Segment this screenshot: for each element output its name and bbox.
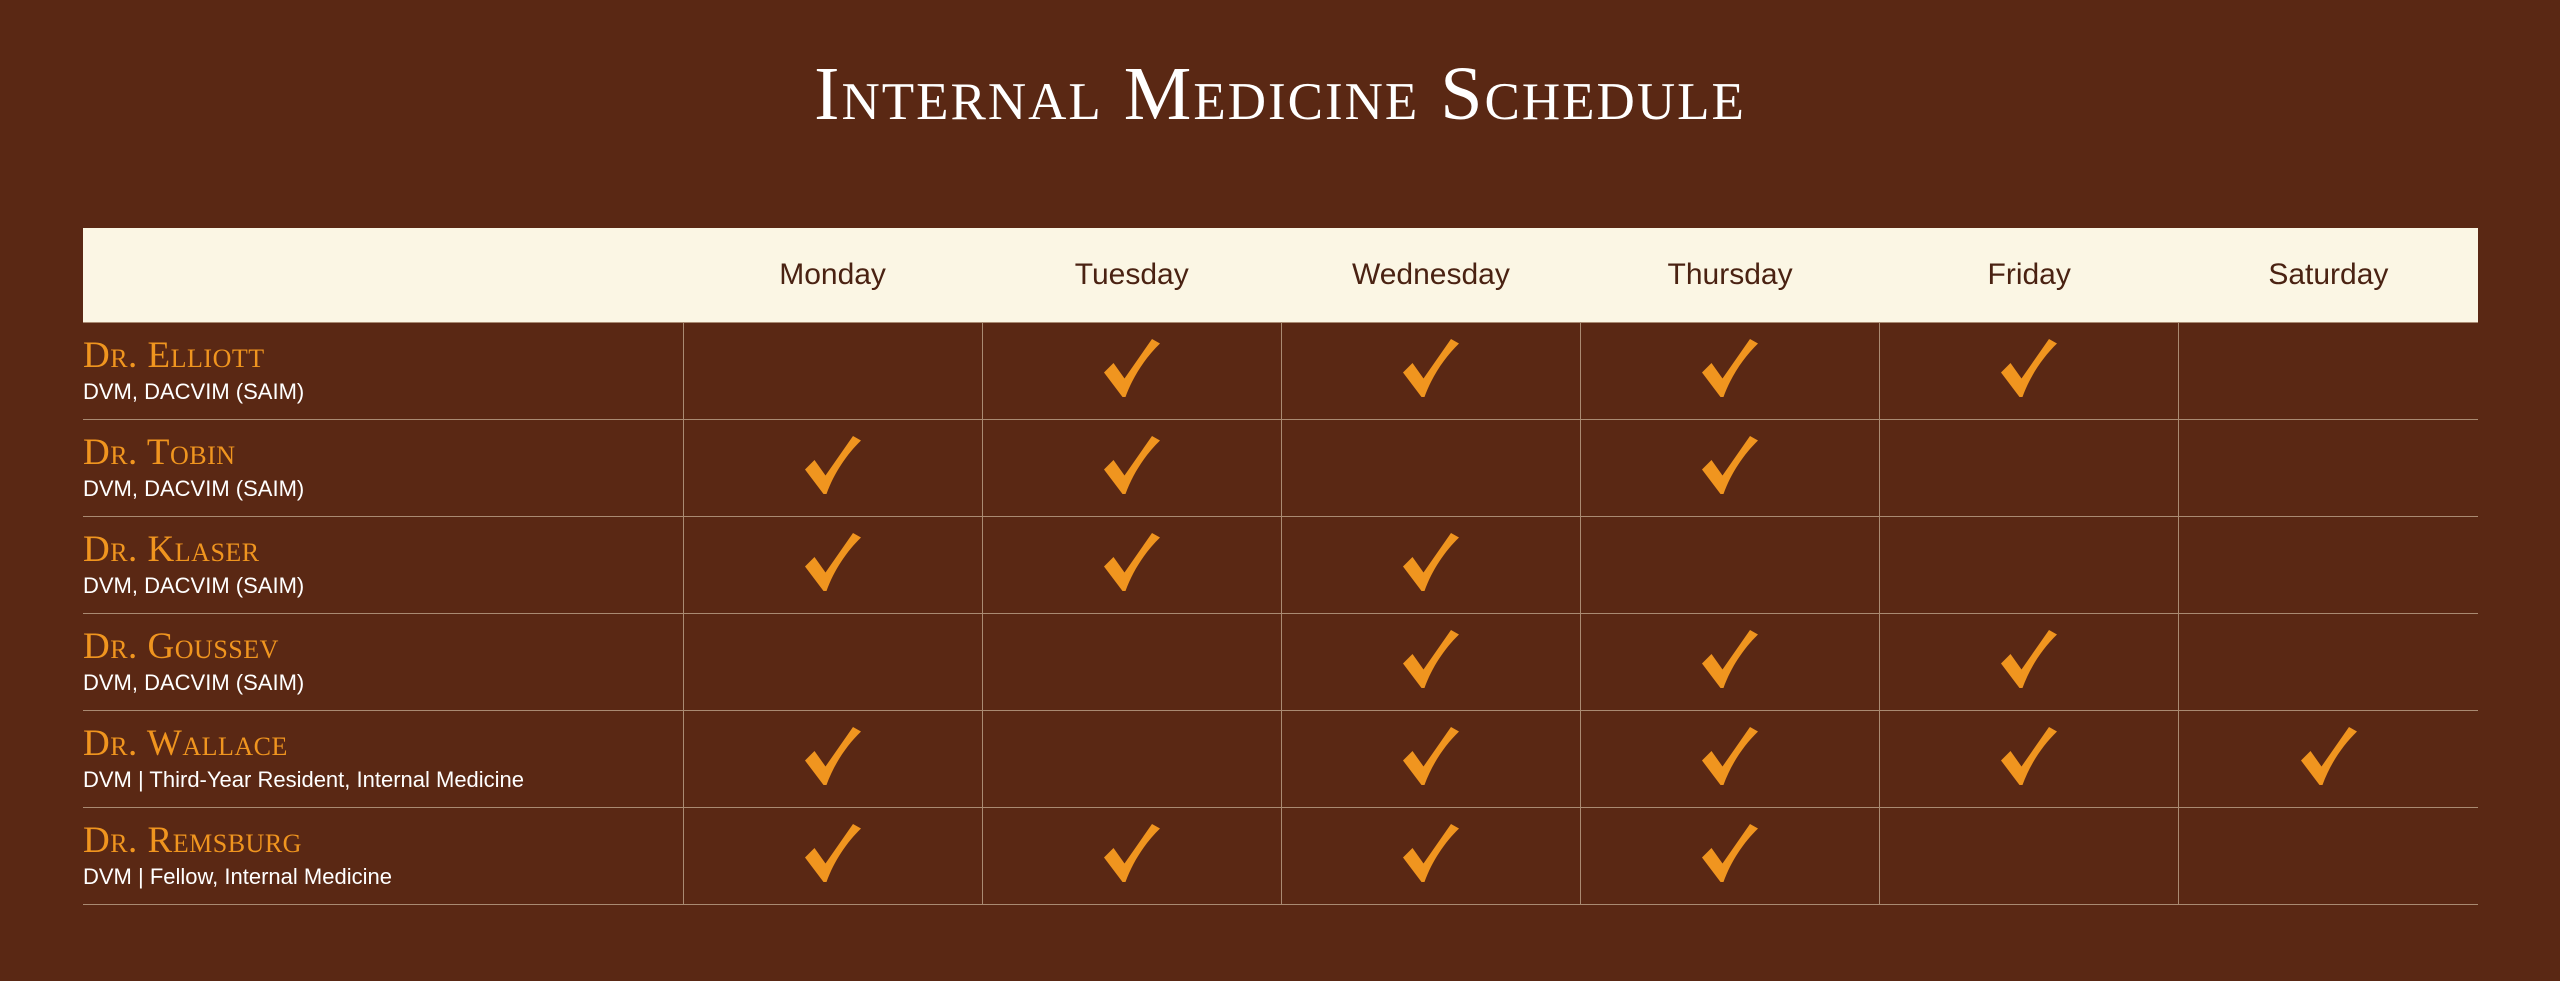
- check-mark-icon: [1395, 818, 1467, 890]
- column-header-thursday: Thursday: [1580, 228, 1879, 323]
- schedule-cell-friday[interactable]: [1880, 711, 2179, 808]
- doctor-credentials: DVM, DACVIM (SAIM): [83, 376, 683, 406]
- table-row: Dr. TobinDVM, DACVIM (SAIM): [83, 420, 2478, 517]
- check-mark-icon: [2293, 721, 2365, 793]
- check-mark-icon: [1694, 430, 1766, 502]
- schedule-cell-thursday[interactable]: [1580, 808, 1879, 905]
- schedule-cell-monday[interactable]: [683, 517, 982, 614]
- schedule-cell-monday[interactable]: [683, 420, 982, 517]
- doctor-name: Dr. Goussev: [83, 627, 683, 667]
- schedule-cell-tuesday[interactable]: [982, 808, 1281, 905]
- column-header-wednesday: Wednesday: [1281, 228, 1580, 323]
- check-mark-icon: [1395, 527, 1467, 599]
- doctor-credentials: DVM | Third-Year Resident, Internal Medi…: [83, 764, 683, 794]
- internal-medicine-schedule-table: Monday Tuesday Wednesday Thursday Friday…: [83, 228, 2478, 905]
- column-header-monday: Monday: [683, 228, 982, 323]
- table-row: Dr. WallaceDVM | Third-Year Resident, In…: [83, 711, 2478, 808]
- schedule-cell-monday[interactable]: [683, 323, 982, 420]
- check-mark-icon: [797, 430, 869, 502]
- check-mark-icon: [1694, 818, 1766, 890]
- schedule-cell-monday[interactable]: [683, 614, 982, 711]
- schedule-cell-thursday[interactable]: [1580, 711, 1879, 808]
- check-mark-icon: [797, 818, 869, 890]
- column-header-saturday: Saturday: [2179, 228, 2478, 323]
- doctor-name: Dr. Remsburg: [83, 821, 683, 861]
- doctor-credentials: DVM, DACVIM (SAIM): [83, 473, 683, 503]
- check-mark-icon: [1096, 333, 1168, 405]
- column-header-tuesday: Tuesday: [982, 228, 1281, 323]
- table-row: Dr. ElliottDVM, DACVIM (SAIM): [83, 323, 2478, 420]
- schedule-cell-thursday[interactable]: [1580, 420, 1879, 517]
- schedule-cell-tuesday[interactable]: [982, 420, 1281, 517]
- schedule-cell-tuesday[interactable]: [982, 711, 1281, 808]
- table-row: Dr. GoussevDVM, DACVIM (SAIM): [83, 614, 2478, 711]
- check-mark-icon: [1395, 624, 1467, 696]
- schedule-cell-saturday[interactable]: [2179, 808, 2478, 905]
- schedule-cell-wednesday[interactable]: [1281, 323, 1580, 420]
- column-header-friday: Friday: [1880, 228, 2179, 323]
- schedule-cell-saturday[interactable]: [2179, 711, 2478, 808]
- doctor-cell: Dr. KlaserDVM, DACVIM (SAIM): [83, 517, 683, 614]
- schedule-cell-saturday[interactable]: [2179, 517, 2478, 614]
- doctor-cell: Dr. GoussevDVM, DACVIM (SAIM): [83, 614, 683, 711]
- table-row: Dr. RemsburgDVM | Fellow, Internal Medic…: [83, 808, 2478, 905]
- schedule-cell-friday[interactable]: [1880, 808, 2179, 905]
- check-mark-icon: [1993, 624, 2065, 696]
- check-mark-icon: [1694, 624, 1766, 696]
- schedule-cell-thursday[interactable]: [1580, 614, 1879, 711]
- check-mark-icon: [1395, 721, 1467, 793]
- doctor-cell: Dr. WallaceDVM | Third-Year Resident, In…: [83, 711, 683, 808]
- schedule-cell-tuesday[interactable]: [982, 323, 1281, 420]
- check-mark-icon: [1096, 527, 1168, 599]
- schedule-cell-friday[interactable]: [1880, 614, 2179, 711]
- page-title: Internal Medicine Schedule: [0, 48, 2560, 140]
- schedule-cell-wednesday[interactable]: [1281, 808, 1580, 905]
- schedule-cell-tuesday[interactable]: [982, 517, 1281, 614]
- schedule-cell-saturday[interactable]: [2179, 614, 2478, 711]
- doctor-name: Dr. Wallace: [83, 724, 683, 764]
- schedule-cell-wednesday[interactable]: [1281, 517, 1580, 614]
- schedule-cell-saturday[interactable]: [2179, 420, 2478, 517]
- check-mark-icon: [1694, 333, 1766, 405]
- schedule-cell-tuesday[interactable]: [982, 614, 1281, 711]
- doctor-name: Dr. Elliott: [83, 336, 683, 376]
- check-mark-icon: [1395, 333, 1467, 405]
- doctor-credentials: DVM, DACVIM (SAIM): [83, 667, 683, 697]
- doctor-cell: Dr. TobinDVM, DACVIM (SAIM): [83, 420, 683, 517]
- check-mark-icon: [1993, 333, 2065, 405]
- doctor-name: Dr. Klaser: [83, 530, 683, 570]
- schedule-page: Internal Medicine Schedule Monday Tuesda…: [0, 0, 2560, 981]
- schedule-cell-friday[interactable]: [1880, 323, 2179, 420]
- check-mark-icon: [797, 721, 869, 793]
- check-mark-icon: [797, 527, 869, 599]
- check-mark-icon: [1694, 721, 1766, 793]
- header-row: Monday Tuesday Wednesday Thursday Friday…: [83, 228, 2478, 323]
- doctor-name: Dr. Tobin: [83, 433, 683, 473]
- table-body: Dr. ElliottDVM, DACVIM (SAIM)Dr. TobinDV…: [83, 323, 2478, 905]
- check-mark-icon: [1993, 721, 2065, 793]
- doctor-cell: Dr. ElliottDVM, DACVIM (SAIM): [83, 323, 683, 420]
- schedule-cell-friday[interactable]: [1880, 517, 2179, 614]
- check-mark-icon: [1096, 430, 1168, 502]
- schedule-cell-friday[interactable]: [1880, 420, 2179, 517]
- schedule-cell-wednesday[interactable]: [1281, 420, 1580, 517]
- schedule-cell-wednesday[interactable]: [1281, 614, 1580, 711]
- schedule-cell-thursday[interactable]: [1580, 323, 1879, 420]
- table-header: Monday Tuesday Wednesday Thursday Friday…: [83, 228, 2478, 323]
- schedule-cell-wednesday[interactable]: [1281, 711, 1580, 808]
- check-mark-icon: [1096, 818, 1168, 890]
- schedule-cell-thursday[interactable]: [1580, 517, 1879, 614]
- header-corner-cell: [83, 228, 683, 323]
- doctor-credentials: DVM | Fellow, Internal Medicine: [83, 861, 683, 891]
- table-row: Dr. KlaserDVM, DACVIM (SAIM): [83, 517, 2478, 614]
- schedule-cell-saturday[interactable]: [2179, 323, 2478, 420]
- doctor-cell: Dr. RemsburgDVM | Fellow, Internal Medic…: [83, 808, 683, 905]
- schedule-cell-monday[interactable]: [683, 711, 982, 808]
- doctor-credentials: DVM, DACVIM (SAIM): [83, 570, 683, 600]
- schedule-cell-monday[interactable]: [683, 808, 982, 905]
